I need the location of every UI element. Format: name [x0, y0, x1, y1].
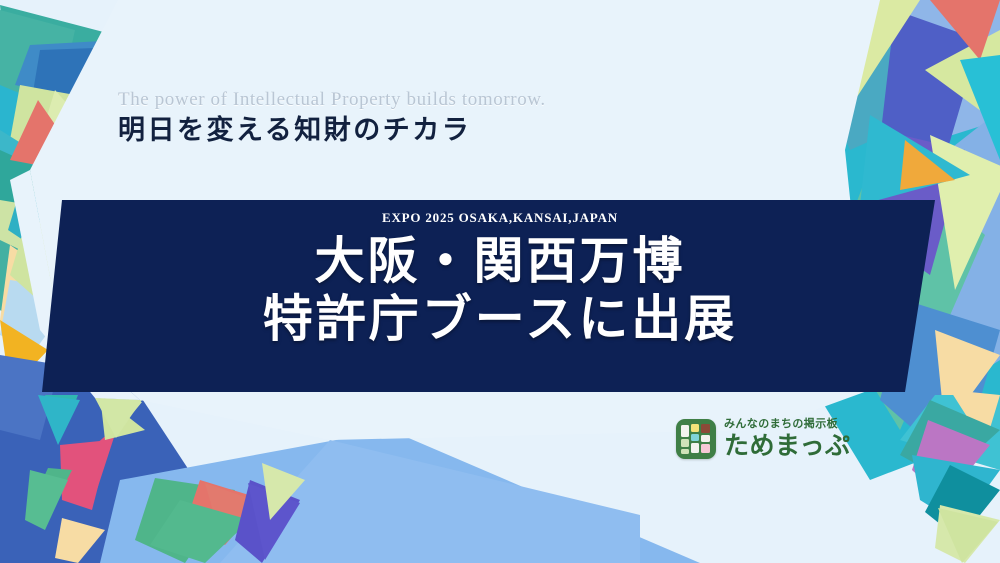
tamemap-logo-text: みんなのまちの掲示板 ためまっぷ	[724, 419, 851, 459]
tagline-english: The power of Intellectual Property build…	[118, 90, 546, 111]
tamemap-logo-name: ためまっぷ	[724, 433, 851, 459]
logo-tile	[701, 435, 710, 442]
headline-banner: EXPO 2025 OSAKA,KANSAI,JAPAN 大阪・関西万博 特許庁…	[0, 196, 1000, 396]
tamemap-logo-tagline: みんなのまちの掲示板	[724, 419, 851, 430]
logo-tile	[701, 444, 710, 453]
promo-banner-image: The power of Intellectual Property build…	[0, 0, 1000, 563]
logo-tile	[681, 439, 689, 447]
banner-shape	[0, 196, 1000, 396]
tamemap-logo-icon	[676, 419, 716, 459]
tagline-block: The power of Intellectual Property build…	[118, 90, 546, 146]
tagline-japanese: 明日を変える知財のチカラ	[118, 115, 546, 146]
logo-tile	[691, 443, 699, 453]
logo-tile	[681, 425, 689, 437]
logo-tile	[691, 424, 699, 432]
logo-tile	[681, 449, 689, 454]
logo-tile	[691, 434, 699, 441]
tamemap-logo[interactable]: みんなのまちの掲示板 ためまっぷ	[676, 419, 851, 459]
logo-tile	[701, 424, 710, 433]
